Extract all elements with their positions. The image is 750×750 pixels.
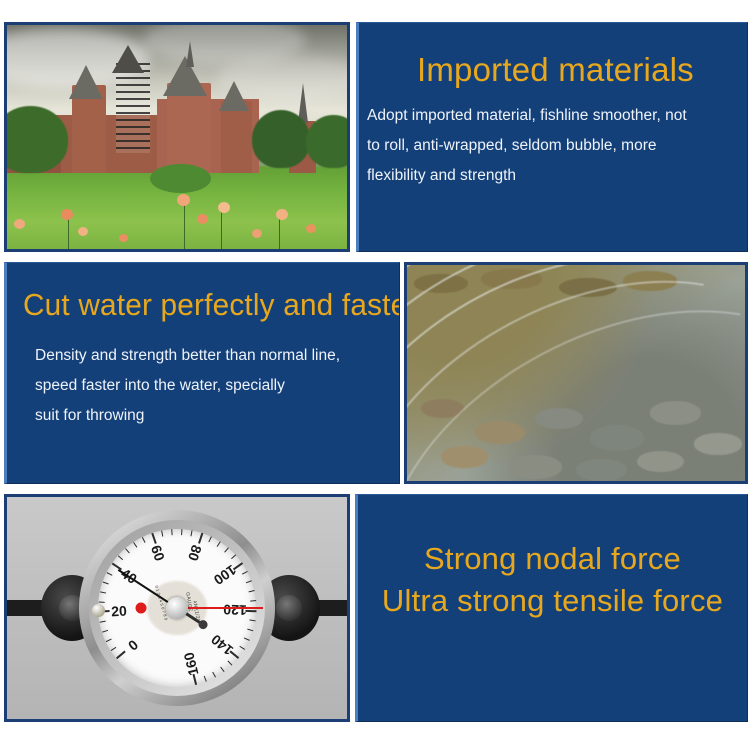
strong-nodal-force-panel: Strong nodal force Ultra strong tensile …: [355, 494, 748, 722]
gauge-reset-screw: [92, 604, 105, 617]
tower-roof: [69, 65, 103, 99]
body-line: Density and strength better than normal …: [35, 341, 340, 371]
rose-bloom: [14, 219, 25, 229]
panel-body: Density and strength better than normal …: [35, 341, 340, 431]
water-pebbles-photo: [404, 262, 748, 484]
rose-bloom: [218, 202, 230, 213]
panel-heading-line2: Ultra strong tensile force: [358, 583, 747, 619]
tower-spire: [186, 41, 194, 67]
gauge-red-marker: [136, 603, 147, 614]
tower-roof: [219, 81, 249, 111]
scaffolding: [116, 63, 150, 153]
body-line: suit for throwing: [35, 401, 340, 431]
body-line: to roll, anti-wrapped, seldom bubble, mo…: [367, 131, 687, 161]
rose-stem: [184, 200, 185, 249]
panel-body: Adopt imported material, fishline smooth…: [367, 101, 687, 191]
body-line: speed faster into the water, specially: [35, 371, 340, 401]
tension-gauge-photo: 020406080100120140160 GAUGE kN (1/2) 0 1…: [4, 494, 350, 722]
castle-photo: [4, 22, 350, 252]
castle-tower: [167, 83, 211, 173]
panel-heading-line1: Strong nodal force: [358, 541, 747, 577]
cut-water-panel: Cut water perfectly and faster Density a…: [4, 262, 400, 484]
tree: [306, 115, 347, 169]
scaffold-roof: [112, 45, 144, 73]
shrub: [150, 164, 211, 193]
panel-heading: Imported materials: [417, 51, 694, 89]
body-line: flexibility and strength: [367, 161, 687, 191]
rose-bloom: [78, 227, 88, 236]
castle-tower: [221, 101, 252, 173]
panel-heading: Cut water perfectly and faster: [23, 287, 400, 323]
imported-materials-panel: Imported materials Adopt imported materi…: [356, 22, 748, 252]
gauge-red-pointer: [177, 607, 263, 609]
rose-bloom: [276, 209, 288, 220]
gauge-hub: [166, 597, 188, 619]
rose-bloom: [252, 229, 262, 238]
tree: [252, 110, 310, 168]
body-line: Adopt imported material, fishline smooth…: [367, 101, 687, 131]
infographic-sheet: Imported materials Adopt imported materi…: [0, 0, 750, 750]
